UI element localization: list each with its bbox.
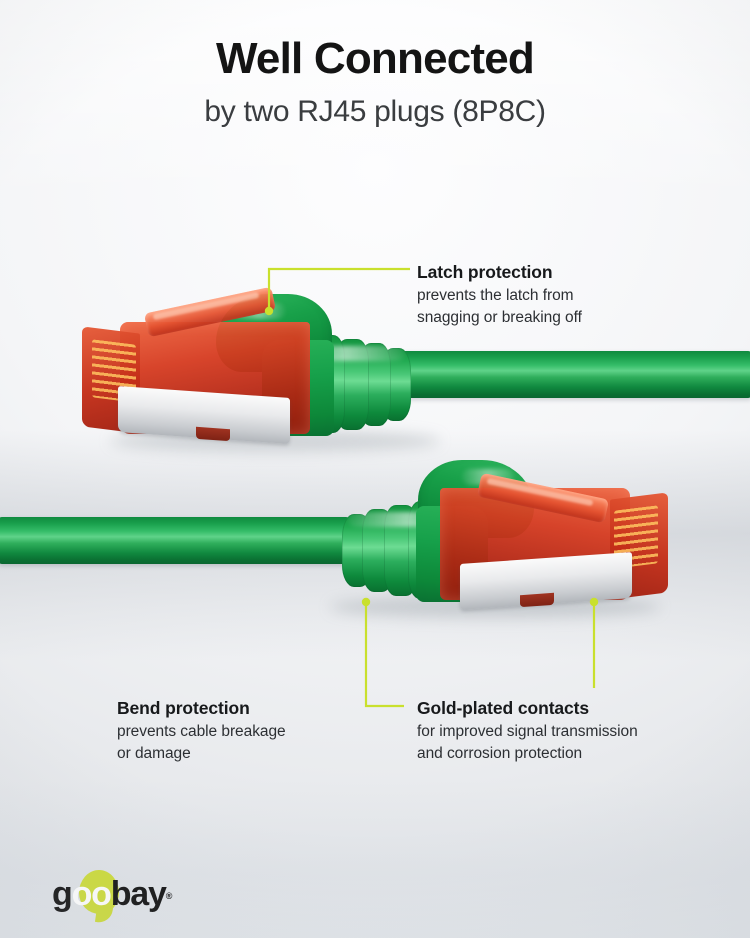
callout-line-1: prevents the latch from xyxy=(417,285,717,307)
callout-bend-protection: Bend protection prevents cable breakage … xyxy=(117,698,407,765)
logo-wordmark: goobay® xyxy=(52,874,166,914)
cable-lower xyxy=(0,517,350,564)
callout-title: Bend protection xyxy=(117,698,407,718)
logo-letter-g: g xyxy=(52,875,72,913)
logo-letters-bay: bay xyxy=(111,875,166,913)
registered-trademark-icon: ® xyxy=(166,876,171,916)
infographic-canvas: Well Connected by two RJ45 plugs (8P8C) xyxy=(0,0,750,938)
callout-title: Latch protection xyxy=(417,262,717,282)
background-footer-band xyxy=(0,780,750,938)
callout-line-2: snagging or breaking off xyxy=(417,307,717,329)
callout-line-1: for improved signal transmission xyxy=(417,721,717,743)
callout-line-1: prevents cable breakage xyxy=(117,721,407,743)
callout-line-2: and corrosion protection xyxy=(417,743,717,765)
metal-shield-tab-lower xyxy=(520,593,554,607)
callout-gold-plated-contacts: Gold-plated contacts for improved signal… xyxy=(417,698,717,765)
callout-latch-protection: Latch protection prevents the latch from… xyxy=(417,262,717,329)
callout-line-2: or damage xyxy=(117,743,407,765)
goobay-logo: goobay® xyxy=(52,874,212,914)
callout-title: Gold-plated contacts xyxy=(417,698,717,718)
logo-letters-oo: oo xyxy=(72,875,111,913)
